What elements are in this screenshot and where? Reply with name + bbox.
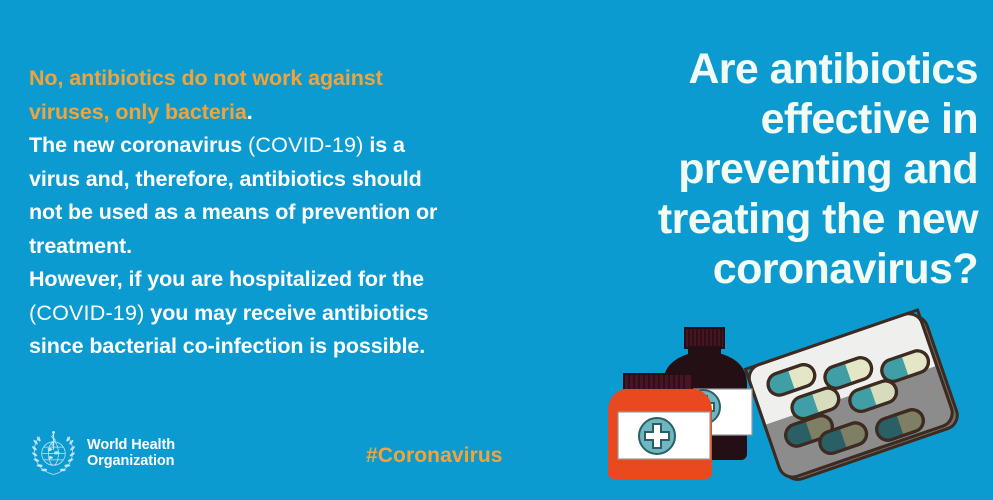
who-wordmark: World Health Organization <box>87 437 175 469</box>
body-line-3-b: is a <box>364 133 405 157</box>
body-line-3-a: The new coronavirus <box>29 133 248 157</box>
red-medicine-bottle-icon <box>608 374 712 479</box>
who-wordmark-line-2: Organization <box>87 453 175 469</box>
body-copy-block: No, antibiotics do not work against viru… <box>29 62 539 364</box>
covid-label-inline-1: (COVID-19) <box>248 133 363 157</box>
who-wordmark-line-1: World Health <box>87 437 175 453</box>
body-line-7: However, if you are hospitalized for the <box>29 263 539 297</box>
body-line-6: treatment. <box>29 230 539 264</box>
body-line-5: not be used as a means of prevention or <box>29 196 539 230</box>
headline: Are antibiotics effective in preventing … <box>558 44 978 294</box>
medicine-illustration <box>596 296 993 500</box>
body-line-9: since bacterial co-infection is possible… <box>29 330 539 364</box>
who-emblem-icon <box>29 428 78 477</box>
who-logo: World Health Organization <box>29 428 175 477</box>
body-line-2-period: . <box>247 100 253 124</box>
body-line-8: (COVID-19) you may receive antibiotics <box>29 297 539 331</box>
body-line-8-b: you may receive antibiotics <box>144 301 428 325</box>
body-line-1-lead: No, antibiotics do not work against <box>29 66 383 90</box>
poster-canvas: No, antibiotics do not work against viru… <box>0 0 993 500</box>
body-line-2: viruses, only bacteria. <box>29 96 539 130</box>
body-line-3: The new coronavirus (COVID-19) is a <box>29 129 539 163</box>
hashtag-label: #Coronavirus <box>366 444 503 468</box>
covid-label-inline-2: (COVID-19) <box>29 301 144 325</box>
body-line-2-lead: viruses, only bacteria <box>29 100 247 124</box>
pill-blister-pack-icon <box>745 309 961 485</box>
body-line-4: virus and, therefore, antibiotics should <box>29 163 539 197</box>
body-line-1: No, antibiotics do not work against <box>29 62 539 96</box>
